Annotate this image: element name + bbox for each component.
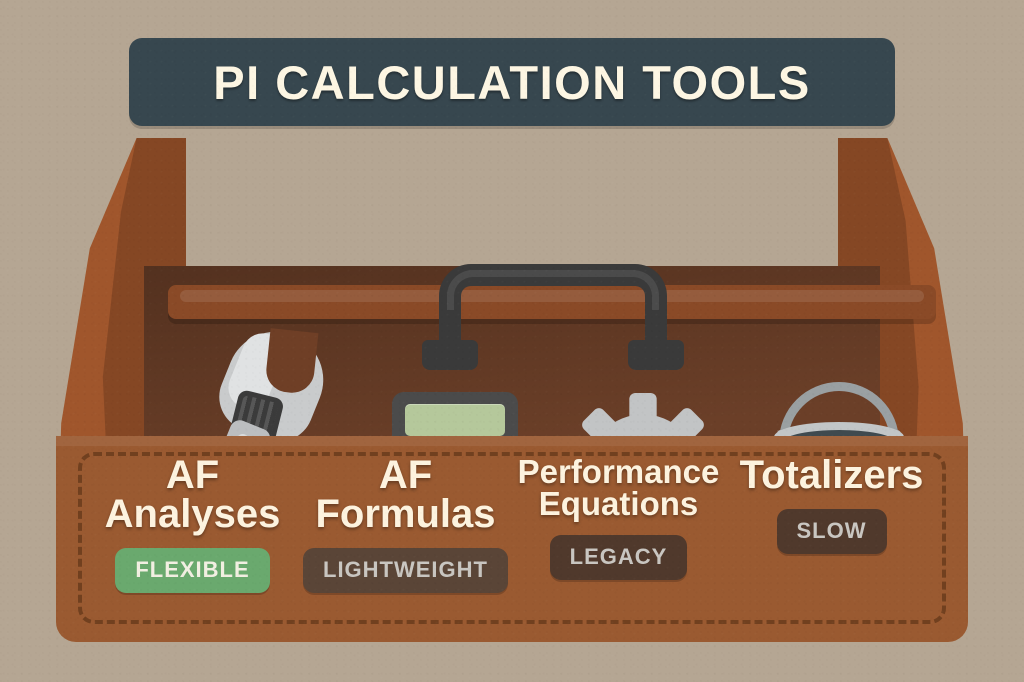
badge-legacy: LEGACY (550, 535, 688, 580)
badge-slow: SLOW (777, 509, 887, 554)
illustration-canvas: PI CALCULATION TOOLS (0, 0, 1024, 682)
tool-name-af-analyses: AF Analyses (105, 456, 281, 534)
calculator-screen (405, 404, 505, 436)
handle-foot-left (422, 340, 478, 370)
tool-entry-totalizers: Totalizers SLOW (725, 456, 938, 554)
handle-foot-right (628, 340, 684, 370)
tool-name-performance-equations: Performance Equations (518, 456, 720, 521)
title-banner: PI CALCULATION TOOLS (129, 38, 895, 126)
tool-entry-performance-equations: Performance Equations LEGACY (512, 456, 725, 580)
tool-entry-af-formulas: AF Formulas LIGHTWEIGHT (299, 456, 512, 593)
badge-flexible: FLEXIBLE (115, 548, 269, 593)
toolbox: + − % = (40, 120, 984, 642)
handle-arch-highlight (447, 270, 659, 310)
tool-entry-af-analyses: AF Analyses FLEXIBLE (86, 456, 299, 593)
toolbox-front-panel-edge (56, 436, 968, 446)
tool-label-row: AF Analyses FLEXIBLE AF Formulas LIGHTWE… (86, 456, 938, 620)
tool-name-totalizers: Totalizers (740, 456, 924, 495)
tool-name-af-formulas: AF Formulas (315, 456, 495, 534)
badge-lightweight: LIGHTWEIGHT (303, 548, 508, 593)
page-title: PI CALCULATION TOOLS (213, 55, 810, 110)
toolbox-handle-icon (425, 264, 681, 360)
